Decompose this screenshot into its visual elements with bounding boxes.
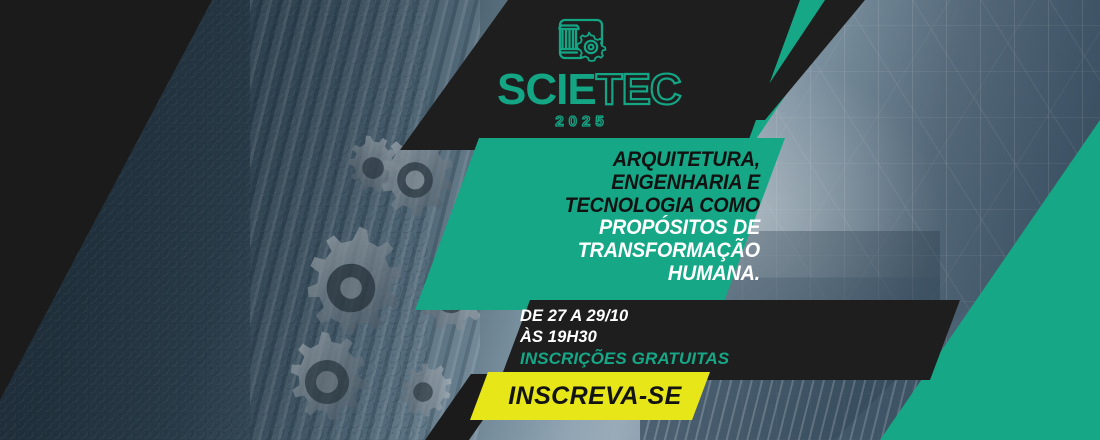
event-banner: SCIETEC 2025 ARQUITETURA, ENGENHARIA E T… [0,0,1100,440]
registration-note: INSCRIÇÕES GRATUITAS [520,348,820,369]
headline-line-6: HUMANA. [456,262,760,285]
headline-line-2: ENGENHARIA E [456,171,760,194]
headline-line-5: TRANSFORMAÇÃO [456,239,760,262]
headline: ARQUITETURA, ENGENHARIA E TECNOLOGIA COM… [456,148,760,285]
logo-wordmark-outline: TEC [596,65,681,114]
headline-line-4: PROPÓSITOS DE [456,216,760,239]
logo-wordmark: SCIETEC [497,70,667,110]
event-time: ÀS 19H30 [520,327,820,348]
logo-wordmark-solid: SCIE [497,65,596,114]
scietec-logo: SCIETEC 2025 [497,16,667,124]
event-info: DE 27 A 29/10 ÀS 19H30 INSCRIÇÕES GRATUI… [520,306,820,369]
column-and-gear-icon [551,16,613,66]
event-dates: DE 27 A 29/10 [520,306,820,327]
logo-year: 2025 [497,113,667,130]
headline-line-3: TECNOLOGIA COMO [456,194,760,217]
register-button-label: INSCREVA-SE [508,382,681,411]
headline-line-1: ARQUITETURA, [456,148,760,171]
register-button[interactable]: INSCREVA-SE [500,378,690,414]
